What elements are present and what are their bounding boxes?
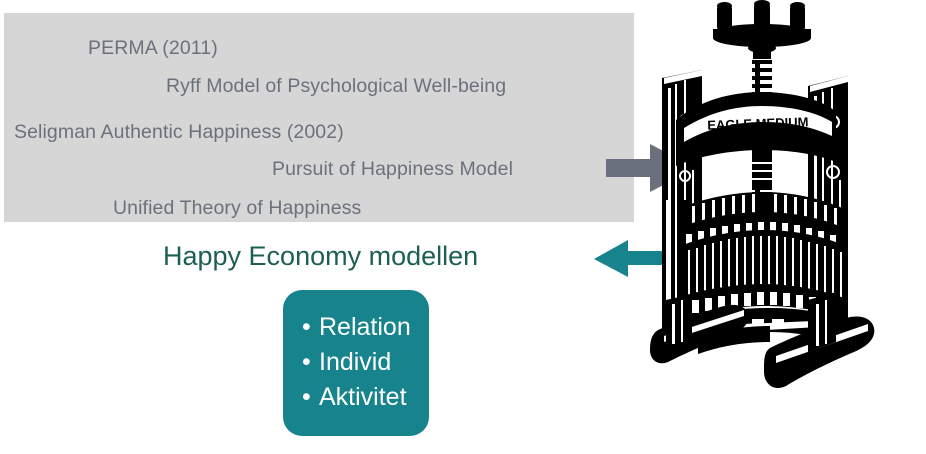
list-item: •Aktivitet [302, 380, 411, 415]
model-line-pursuit: Pursuit of Happiness Model [272, 160, 513, 180]
model-line-seligman: Seligman Authentic Happiness (2002) [14, 123, 344, 143]
cider-press-illustration: EAGLE MEDIUM [640, 0, 926, 400]
pillar-label-individ: Individ [319, 348, 391, 376]
bullet-icon: • [302, 380, 319, 415]
pillar-label-relation: Relation [319, 313, 411, 341]
bullet-icon: • [302, 345, 319, 380]
happy-economy-title: Happy Economy modellen [163, 243, 478, 270]
model-line-ryff: Ryff Model of Psychological Well-being [166, 77, 506, 97]
bullet-icon: • [302, 310, 319, 345]
pillar-label-aktivitet: Aktivitet [319, 383, 407, 411]
happy-economy-pillars-box: •Relation •Individ •Aktivitet [283, 290, 429, 436]
legacy-models-panel: PERMA (2011) Ryff Model of Psychological… [4, 13, 634, 222]
model-line-unified: Unified Theory of Happiness [113, 199, 361, 219]
list-item: •Individ [302, 345, 411, 380]
pillars-list: •Relation •Individ •Aktivitet [302, 310, 411, 415]
list-item: •Relation [302, 310, 411, 345]
model-line-perma: PERMA (2011) [88, 39, 218, 59]
